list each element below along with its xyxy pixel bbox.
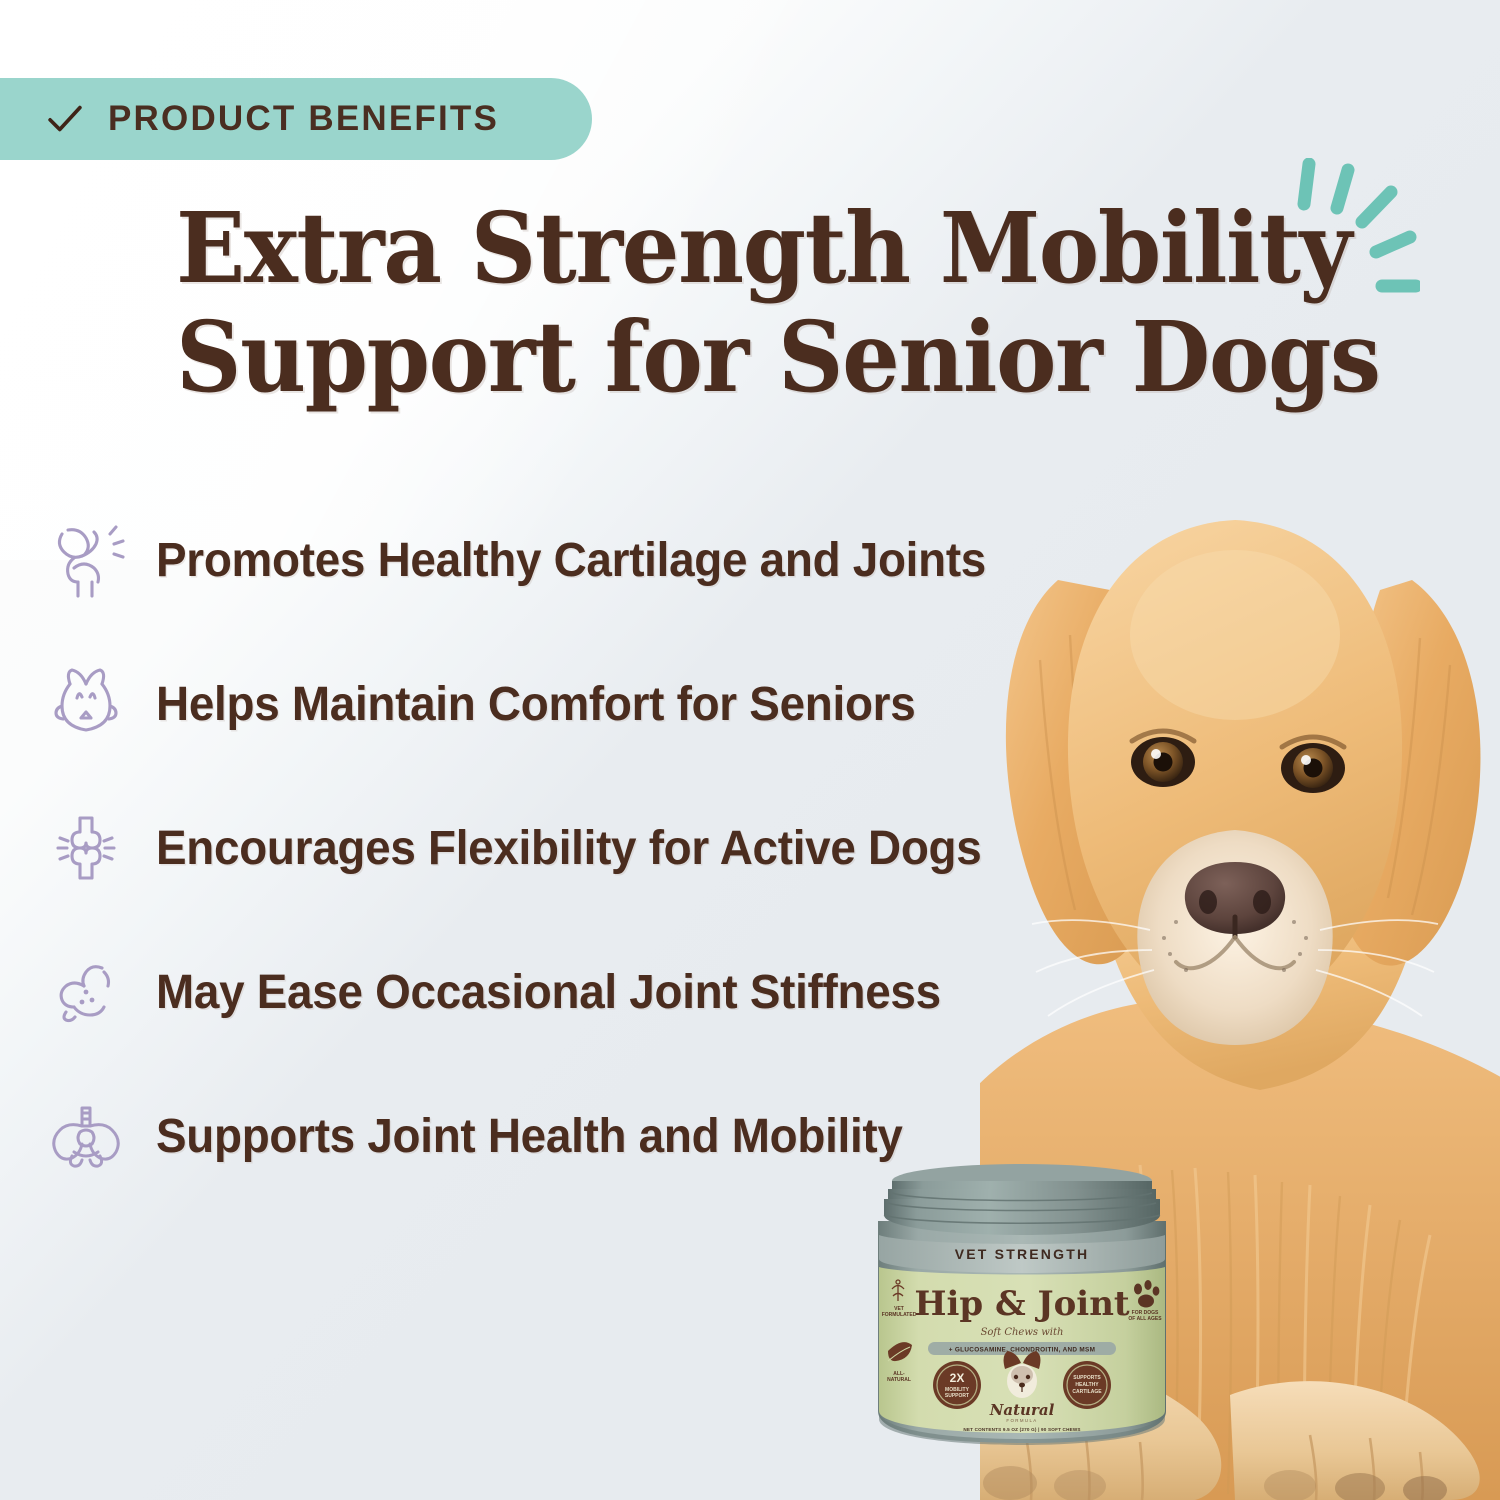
jar-badge-cartilage-line1: SUPPORTS — [1073, 1375, 1101, 1381]
benefit-label-5: Supports Joint Health and Mobility — [156, 1109, 903, 1164]
jar-badge-cartilage: SUPPORTS HEALTHY CARTILAGE — [1063, 1361, 1111, 1409]
dog-face-icon — [44, 662, 128, 746]
headline-line-2: Support for Senior Dogs — [176, 305, 1307, 410]
jar-net-contents: NET CONTENTS 9.5 OZ (270 G) | 90 SOFT CH… — [963, 1427, 1080, 1432]
benefit-label-1: Promotes Healthy Cartilage and Joints — [156, 533, 986, 588]
product-benefits-badge: PRODUCT BENEFITS — [0, 78, 592, 160]
hip-pelvis-icon — [44, 1094, 128, 1178]
knee-joint-icon — [44, 518, 128, 602]
headline-line-1: Extra Strength Mobility — [176, 196, 1307, 301]
check-icon — [44, 98, 86, 140]
benefit-label-3: Encourages Flexibility for Active Dogs — [156, 821, 981, 876]
jar-title: Hip & Joint — [914, 1284, 1130, 1324]
sparkle-burst-icon — [1290, 158, 1420, 308]
benefit-label-2: Helps Maintain Comfort for Seniors — [156, 677, 915, 732]
jar-badge-2x-value: 2X — [950, 1371, 965, 1385]
hip-and-joint-jar-image: VET STRENGTH Hip & Joint Soft Chews with… — [862, 1163, 1182, 1453]
benefits-list: Promotes Healthy Cartilage and Joints He… — [44, 488, 1144, 1208]
jar-natural-label: Natural — [989, 1401, 1055, 1419]
jar-badge-cartilage-line2: HEALTHY — [1075, 1382, 1099, 1388]
jar-badge-cartilage-line3: CARTILAGE — [1072, 1389, 1102, 1395]
product-benefits-label: PRODUCT BENEFITS — [108, 99, 499, 139]
jar-ingredients: + GLUCOSAMINE, CHONDROITIN, AND MSM — [949, 1347, 1095, 1354]
benefit-item-1: Promotes Healthy Cartilage and Joints — [44, 488, 1144, 632]
jar-vet-strength-text: VET STRENGTH — [955, 1246, 1090, 1262]
benefit-item-2: Helps Maintain Comfort for Seniors — [44, 632, 1144, 776]
benefit-label-4: May Ease Occasional Joint Stiffness — [156, 965, 941, 1020]
jar-all-natural-line2: NATURAL — [887, 1377, 911, 1383]
benefit-item-3: Encourages Flexibility for Active Dogs — [44, 776, 1144, 920]
bone-joint-icon — [44, 806, 128, 890]
page-title: Extra Strength Mobility Support for Seni… — [176, 196, 1386, 410]
jar-all-ages-line2: OF ALL AGES — [1128, 1316, 1162, 1322]
jar-vet-formulated-line2: FORMULATED — [882, 1312, 917, 1318]
product-jar: VET STRENGTH Hip & Joint Soft Chews with… — [862, 1163, 1182, 1453]
benefit-item-4: May Ease Occasional Joint Stiffness — [44, 920, 1144, 1064]
jar-subtitle: Soft Chews with — [981, 1327, 1064, 1338]
jar-badge-2x: 2X MOBILITY SUPPORT — [933, 1361, 981, 1409]
jar-badge-2x-line3: SUPPORT — [945, 1393, 969, 1399]
jar-natural-sub: FORMULA — [1006, 1418, 1037, 1423]
dog-leg-icon — [44, 950, 128, 1034]
jar-lid — [884, 1164, 1160, 1235]
